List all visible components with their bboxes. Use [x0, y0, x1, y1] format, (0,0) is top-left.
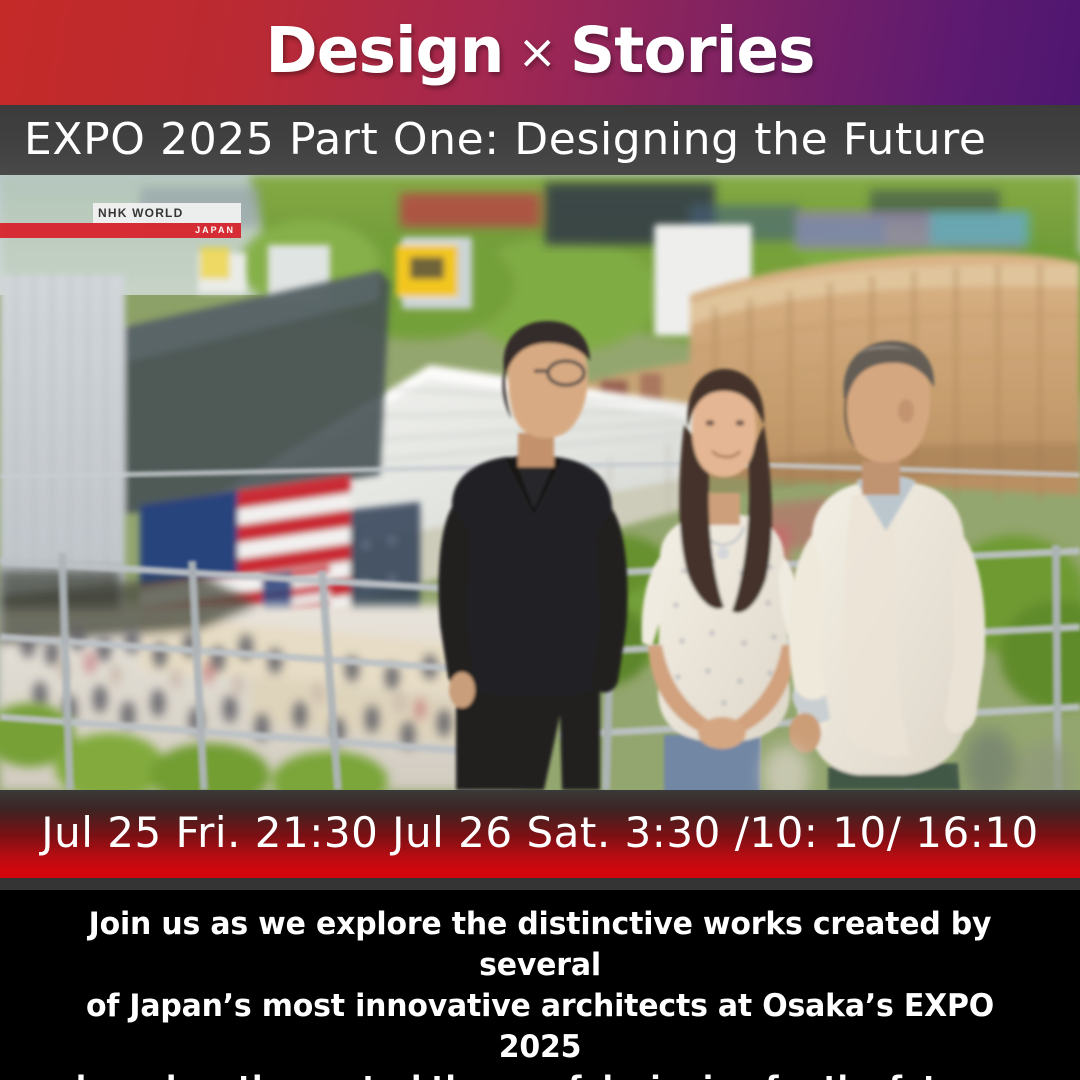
broadcast-date-band: Jul 25 Fri. 21:30 Jul 26 Sat. 3:30 /10: …	[0, 790, 1080, 878]
description-line-1: Join us as we explore the distinctive wo…	[27, 904, 1053, 986]
nhk-world-japan-watermark: NHK WORLD JAPAN	[93, 203, 241, 239]
subtitle-bar: EXPO 2025 Part One: Designing the Future	[0, 105, 1080, 175]
nhk-wordmark-text: NHK WORLD	[98, 207, 183, 219]
hero-photo-illustration	[0, 175, 1080, 790]
brand-title-left: Design	[265, 14, 503, 87]
description-line-3: based on the central theme of designing …	[27, 1068, 1053, 1080]
divider-strip	[0, 878, 1080, 890]
broadcast-times: Jul 25 Fri. 21:30 Jul 26 Sat. 3:30 /10: …	[41, 812, 1039, 856]
description-block: Join us as we explore the distinctive wo…	[0, 890, 1080, 1080]
description-line-2: of Japan’s most innovative architects at…	[27, 986, 1053, 1068]
poster-root: Design×Stories EXPO 2025 Part One: Desig…	[0, 0, 1080, 1080]
nhk-red-tail	[0, 223, 96, 238]
brand-title-right: Stories	[570, 14, 815, 87]
header-band: Design×Stories	[0, 0, 1080, 105]
nhk-japan-text: JAPAN	[195, 226, 235, 235]
nhk-wordmark: NHK WORLD	[93, 203, 241, 223]
episode-title: EXPO 2025 Part One: Designing the Future	[0, 118, 987, 162]
brand-separator-icon: ×	[504, 25, 570, 80]
nhk-japan-bar: JAPAN	[93, 223, 241, 238]
hero-photo	[0, 175, 1080, 790]
brand-title: Design×Stories	[265, 19, 814, 86]
